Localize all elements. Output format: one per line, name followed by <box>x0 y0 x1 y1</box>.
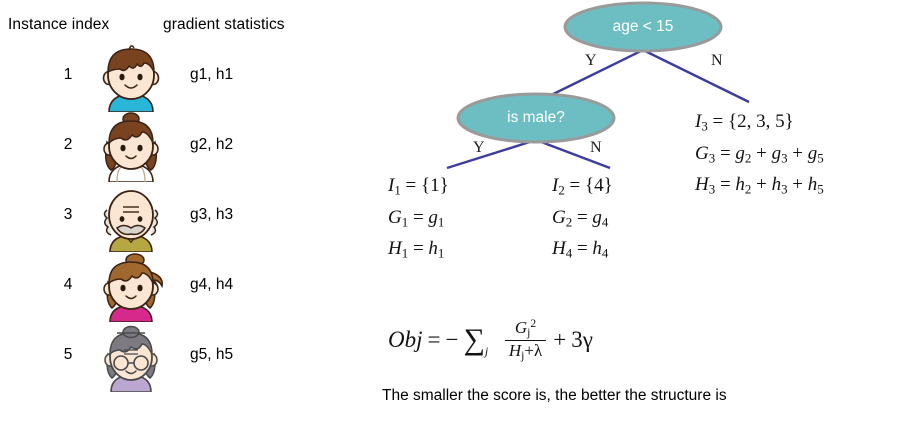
row-index: 4 <box>55 276 81 294</box>
leaf2-H-value-subscript: 4 <box>602 246 608 261</box>
objective-lhs: Obj <box>388 327 423 353</box>
leaf2-statistics: I2 = {4} G2 = g4 H4 = h4 <box>552 172 613 267</box>
leaf3-H-terms: h2 + h3 + h5 <box>735 174 823 195</box>
edge-label-root-yes: Y <box>585 52 597 70</box>
leaf2-H-subscript: 4 <box>566 246 572 261</box>
leaf3-G-symbol: G <box>695 143 709 164</box>
old-man-avatar <box>95 182 167 252</box>
leaf1-statistics: I1 = {1} G1 = g1 H1 = h1 <box>388 172 449 267</box>
column-header-gradient-statistics: gradient statistics <box>163 16 285 34</box>
leaf1-H-value-subscript: 1 <box>438 246 444 261</box>
objective-equals: = <box>428 327 441 353</box>
edge-root-no <box>643 50 749 102</box>
objective-minus-sign: − <box>445 327 458 353</box>
edge-label-left-yes: Y <box>473 139 485 157</box>
leaf1-I-subscript: 1 <box>394 183 400 198</box>
decision-tree-diagram: age < 15 is male? Y N Y N I1 = {1} G1 = … <box>340 0 920 421</box>
table-row: 3 g3, h3 <box>0 182 340 254</box>
leaf3-I-subscript: 3 <box>701 119 707 134</box>
leaf3-statistics: I3 = {2, 3, 5} G3 = g2 + g3 + g5 H3 = h2… <box>695 108 824 203</box>
leaf2-I-value: {4} <box>585 175 613 196</box>
leaf2-I-subscript: 2 <box>558 183 564 198</box>
row-index: 2 <box>55 136 81 154</box>
leaf2-G-symbol: G <box>552 207 566 228</box>
row-gradient-stats: g4, h4 <box>190 276 233 294</box>
figure-root: Instance index gradient statistics 1 <box>0 0 920 421</box>
leaf3-H-subscript: 3 <box>709 182 715 197</box>
leaf1-I-value: {1} <box>421 175 449 196</box>
leaf3-I-value: {2, 3, 5} <box>728 111 794 132</box>
leaf1-G-value: g <box>428 207 438 228</box>
old-woman-avatar <box>95 322 167 392</box>
row-gradient-stats: g1, h1 <box>190 66 233 84</box>
tree-node-root-label: age < 15 <box>565 18 721 36</box>
row-index: 5 <box>55 346 81 364</box>
objective-formula: Obj = − ∑ j Gj2 Hj+λ + 3γ <box>388 318 593 363</box>
leaf3-G-subscript: 3 <box>709 150 715 165</box>
fraction-denominator: Hj+λ <box>505 340 546 363</box>
leaf1-H-subscript: 1 <box>402 246 408 261</box>
leaf1-G-value-subscript: 1 <box>438 214 444 229</box>
instance-table: Instance index gradient statistics 1 <box>0 0 340 421</box>
summation-index: j <box>485 345 488 357</box>
row-gradient-stats: g5, h5 <box>190 346 233 364</box>
leaf1-G-subscript: 1 <box>402 214 408 229</box>
objective-fraction: Gj2 Hj+λ <box>505 318 546 363</box>
table-row: 2 <box>0 112 340 184</box>
leaf1-G-symbol: G <box>388 207 402 228</box>
fraction-numerator: Gj2 <box>511 318 540 340</box>
row-index: 3 <box>55 206 81 224</box>
tree-node-is-male-label: is male? <box>458 109 614 127</box>
young-woman-avatar <box>95 252 167 322</box>
leaf3-H-symbol: H <box>695 174 709 195</box>
row-gradient-stats: g2, h2 <box>190 136 233 154</box>
leaf2-H-symbol: H <box>552 238 566 259</box>
edge-left-yes <box>447 140 536 168</box>
table-row: 1 <box>0 42 340 114</box>
leaf2-G-value-subscript: 4 <box>602 214 608 229</box>
leaf2-G-value: g <box>592 207 602 228</box>
girl-child-avatar <box>95 112 167 182</box>
figure-caption: The smaller the score is, the better the… <box>382 387 727 405</box>
edge-label-left-no: N <box>590 139 602 157</box>
row-index: 1 <box>55 66 81 84</box>
objective-gamma-term: 3γ <box>571 327 593 353</box>
edge-label-root-no: N <box>711 52 723 70</box>
leaf2-G-subscript: 2 <box>566 214 572 229</box>
boy-child-avatar <box>95 42 167 112</box>
table-row: 4 <box>0 252 340 324</box>
leaf3-G-terms: g2 + g3 + g5 <box>735 143 823 164</box>
table-row: 5 <box>0 322 340 394</box>
leaf1-H-value: h <box>428 238 438 259</box>
leaf2-H-value: h <box>592 238 602 259</box>
row-gradient-stats: g3, h3 <box>190 206 233 224</box>
objective-plus-sign: + <box>553 327 566 353</box>
column-header-instance-index: Instance index <box>8 16 109 34</box>
summation-symbol: ∑ j <box>463 325 484 355</box>
leaf1-H-symbol: H <box>388 238 402 259</box>
